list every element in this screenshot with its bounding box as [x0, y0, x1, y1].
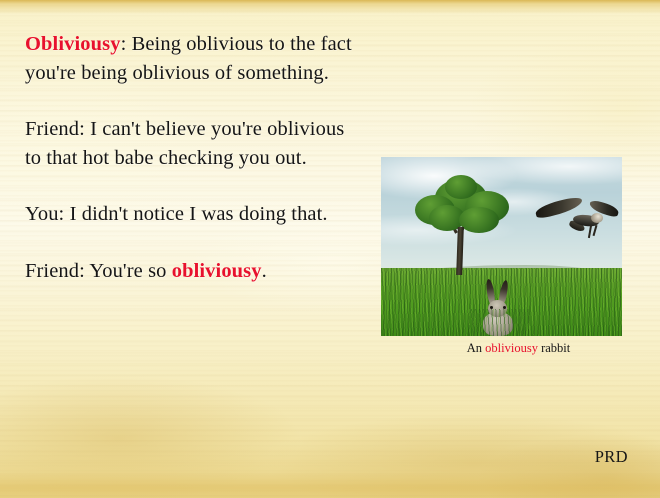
picture-caption: An obliviousy rabbit	[381, 341, 622, 356]
picture-caption-term: obliviousy	[485, 341, 538, 355]
paragraph-you-line: You: I didn't notice I was doing that.	[25, 200, 365, 229]
term-obliviousy: Obliviousy	[25, 33, 121, 55]
paragraph-you-line-text: You: I didn't notice I was doing that.	[25, 203, 328, 225]
definition-text-block: Obliviousy: Being oblivious to the fact …	[25, 30, 365, 285]
picture-caption-suffix: rabbit	[538, 341, 570, 355]
slide-canvas: Obliviousy: Being oblivious to the fact …	[0, 0, 660, 498]
tree-icon	[411, 175, 511, 279]
tree-canopy	[459, 207, 499, 233]
paragraph-friend-line-2-suffix: .	[262, 260, 267, 282]
hawk-head	[591, 213, 603, 223]
picture-caption-prefix: An	[467, 341, 485, 355]
paragraph-friend-line-1-text: Friend: I can't believe you're oblivious…	[25, 118, 344, 169]
tree-canopy	[445, 175, 477, 199]
tree-trunk	[456, 227, 464, 275]
paragraph-friend-line-2-prefix: Friend: You're so	[25, 260, 172, 282]
paragraph-definition: Obliviousy: Being oblivious to the fact …	[25, 30, 365, 87]
hawk-leg	[588, 225, 592, 238]
footer-initials: PRD	[0, 447, 628, 467]
foreground-grass-overlay	[469, 309, 529, 336]
paragraph-friend-line-2: Friend: You're so obliviousy.	[25, 257, 365, 286]
picture-figure: An obliviousy rabbit	[381, 157, 622, 356]
rabbit-photo	[381, 157, 622, 336]
paragraph-friend-line-1: Friend: I can't believe you're oblivious…	[25, 115, 365, 172]
hawk-icon	[529, 195, 615, 245]
hawk-leg	[593, 225, 598, 236]
term-obliviousy-bold: obliviousy	[172, 260, 262, 282]
